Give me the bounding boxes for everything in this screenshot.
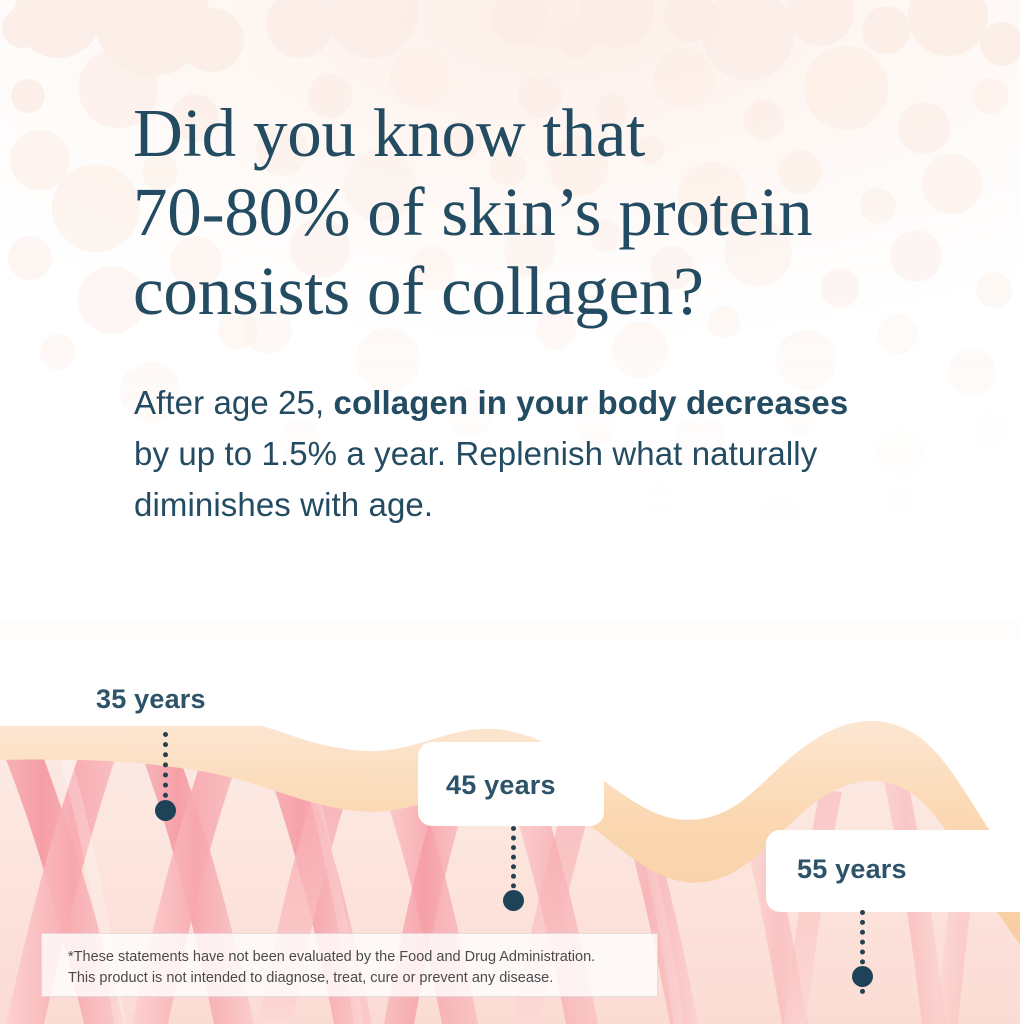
- age-marker-45-leader-line: [511, 826, 516, 898]
- age-marker-55-label: 55 years: [797, 854, 907, 885]
- fda-disclaimer: *These statements have not been evaluate…: [41, 933, 658, 997]
- body-tail: by up to 1.5% a year. Replenish what nat…: [134, 435, 817, 523]
- age-marker-35[interactable]: 35 years: [0, 640, 320, 840]
- body-paragraph: After age 25, collagen in your body decr…: [134, 377, 874, 530]
- body-emphasis-2: decreases: [686, 384, 848, 421]
- page-title: Did you know that 70-80% of skin’s prote…: [133, 94, 973, 331]
- age-marker-45[interactable]: 45 years: [418, 742, 678, 922]
- age-marker-55[interactable]: 55 years: [766, 830, 1020, 1020]
- age-marker-55-dot[interactable]: [852, 966, 873, 987]
- age-marker-35-dot[interactable]: [155, 800, 176, 821]
- body-lead: After age 25,: [134, 384, 334, 421]
- age-marker-35-leader-line: [163, 732, 168, 808]
- body-emphasis-1: collagen in your body: [334, 384, 677, 421]
- age-marker-45-dot[interactable]: [503, 890, 524, 911]
- infographic-canvas: Did you know that 70-80% of skin’s prote…: [0, 0, 1020, 1024]
- age-marker-35-label: 35 years: [96, 684, 206, 715]
- age-marker-45-label: 45 years: [446, 770, 556, 801]
